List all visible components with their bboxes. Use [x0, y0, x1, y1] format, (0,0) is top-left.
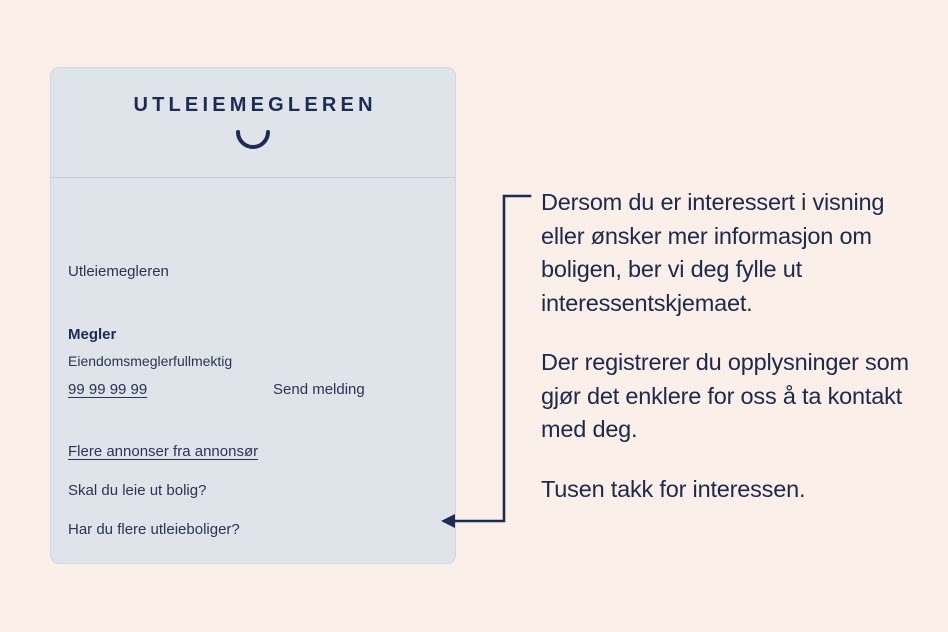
screenshot-stage: UTLEIEMEGLEREN Utleiemegleren Megler Eie…: [0, 0, 948, 632]
broker-card: UTLEIEMEGLEREN Utleiemegleren Megler Eie…: [50, 67, 456, 564]
smile-arc-icon: [235, 130, 271, 152]
broker-name: Megler: [68, 326, 116, 343]
more-ads-from-advertiser-link[interactable]: Flere annonser fra annonsør: [68, 443, 258, 460]
annotation-paragraph-2: Der registrerer du opplysninger som gjør…: [541, 346, 931, 447]
send-message-link[interactable]: Send melding: [273, 381, 365, 398]
company-name: Utleiemegleren: [68, 263, 169, 280]
card-body: Utleiemegleren Megler Eiendomsmeglerfull…: [51, 179, 455, 563]
card-header: UTLEIEMEGLEREN: [51, 68, 455, 178]
broker-title: Eiendomsmeglerfullmektig: [68, 353, 232, 369]
more-rental-homes-link[interactable]: Har du flere utleieboliger?: [68, 521, 240, 538]
annotation-paragraph-3: Tusen takk for interessen.: [541, 473, 931, 507]
broker-phone-link[interactable]: 99 99 99 99: [68, 381, 147, 398]
rent-out-home-link[interactable]: Skal du leie ut bolig?: [68, 482, 206, 499]
utleiemegleren-logo-text: UTLEIEMEGLEREN: [51, 94, 455, 117]
annotation-paragraph-1: Dersom du er interessert i visning eller…: [541, 186, 931, 320]
annotation-text-block: Dersom du er interessert i visning eller…: [541, 186, 931, 506]
